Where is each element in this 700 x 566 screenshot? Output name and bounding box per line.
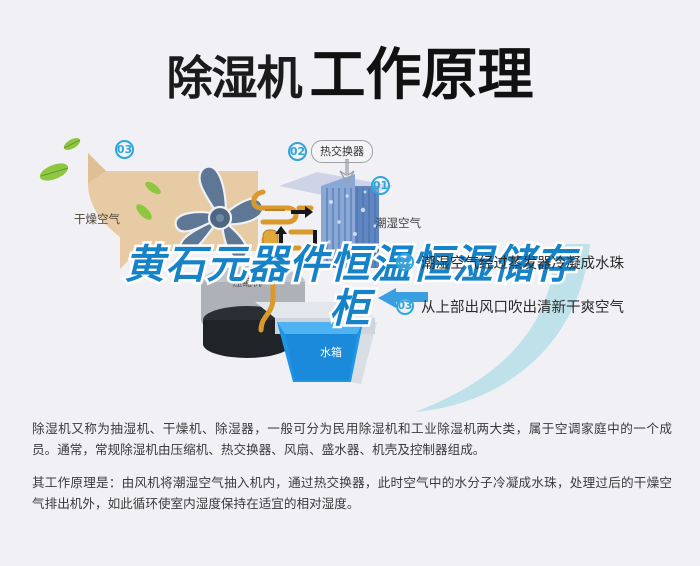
label-03-text: 干燥空气 bbox=[74, 211, 120, 227]
water-tank-label: 水箱 bbox=[320, 344, 342, 360]
body-paragraph-2: 其工作原理是：由风机将潮湿空气抽入机内，通过热交换器，此时空气中的水分子冷凝成水… bbox=[32, 472, 672, 514]
body-copy: 除湿机又称为抽湿机、干燥机、除湿器，一般可分为民用除湿机和工业除湿机两大类，属于… bbox=[32, 418, 672, 524]
page-title-part1: 除湿机 bbox=[167, 51, 302, 105]
page-title-part2: 工作原理 bbox=[310, 43, 534, 108]
page-root: 除湿机工作原理 bbox=[0, 0, 700, 566]
callout-02-badge: 02 bbox=[288, 142, 307, 161]
callout-heat-exchanger: 02 热交换器 bbox=[288, 140, 373, 163]
page-title: 除湿机工作原理 bbox=[0, 30, 700, 111]
legend-text: 从上部出风口吹出清新干爽空气 bbox=[421, 296, 624, 317]
legend-badge: 02 bbox=[396, 253, 414, 271]
legend-list: 02 潮湿空气经过蒸发器冷凝成水珠 03 从上部出风口吹出清新干爽空气 bbox=[396, 247, 696, 335]
legend-text: 潮湿空气经过蒸发器冷凝成水珠 bbox=[421, 252, 624, 273]
body-paragraph-1: 除湿机又称为抽湿机、干燥机、除湿器，一般可分为民用除湿机和工业除湿机两大类，属于… bbox=[32, 418, 672, 460]
legend-badge: 03 bbox=[396, 297, 414, 315]
callout-pointer-icon bbox=[336, 159, 360, 185]
legend-item: 03 从上部出风口吹出清新干爽空气 bbox=[396, 291, 696, 321]
label-01-text: 潮湿空气 bbox=[375, 215, 421, 231]
label-01-humid-air: 01 潮湿空气 bbox=[371, 176, 421, 231]
compressor-and-tank-illustration bbox=[185, 258, 415, 398]
label-03-badge: 03 bbox=[115, 140, 134, 159]
legend-item: 02 潮湿空气经过蒸发器冷凝成水珠 bbox=[396, 247, 696, 277]
label-01-badge: 01 bbox=[371, 176, 390, 195]
compressor-label: 压缩机 bbox=[233, 275, 262, 289]
label-03-dry-air-badge-wrap: 03 bbox=[115, 140, 134, 159]
